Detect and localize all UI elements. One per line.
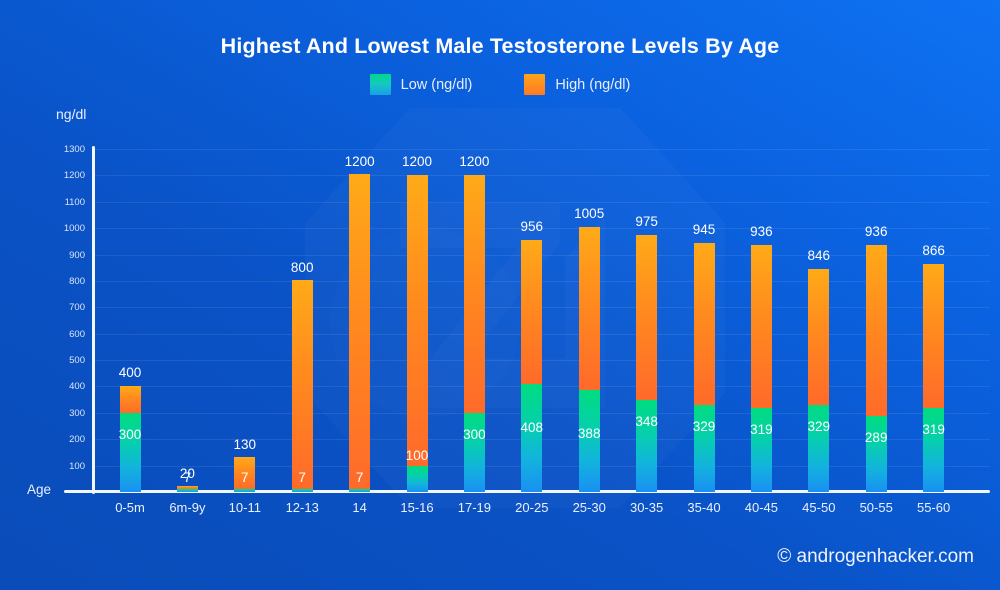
bar-segment-low[interactable] (579, 390, 600, 492)
legend-swatch-low-icon (370, 74, 391, 95)
x-axis-title: Age (27, 482, 51, 497)
x-axis-category-label: 17-19 (458, 500, 491, 515)
legend-label-low: Low (ng/dl) (401, 77, 473, 93)
credit-watermark: © androgenhacker.com (777, 546, 974, 568)
bar-value-label-low: 319 (922, 422, 945, 437)
bar-segment-high[interactable] (407, 175, 428, 465)
bar-value-label-high: 130 (234, 437, 257, 452)
gridline (92, 202, 990, 203)
bar-value-label-high: 846 (808, 248, 831, 263)
bar-value-label-low: 289 (865, 430, 888, 445)
bar-group[interactable] (808, 269, 829, 492)
bar-segment-high[interactable] (120, 386, 141, 412)
bar-group[interactable] (349, 175, 370, 492)
x-axis-category-label: 15-16 (400, 500, 433, 515)
bar-segment-low[interactable] (120, 413, 141, 492)
bar-group[interactable] (292, 281, 313, 492)
bar-value-label-high: 1200 (402, 154, 432, 169)
bar-value-label-low: 7 (298, 470, 306, 485)
bar-segment-low[interactable] (177, 489, 198, 492)
bar-value-label-high: 1200 (345, 154, 375, 169)
x-axis-category-label: 6m-9y (169, 500, 205, 515)
y-axis-tick-label: 1300 (55, 144, 85, 155)
chart-canvas: Highest And Lowest Male Testosterone Lev… (0, 0, 1000, 590)
x-axis-category-label: 10-11 (229, 500, 261, 515)
bar-segment-high[interactable] (521, 240, 542, 385)
legend-item-high[interactable]: High (ng/dl) (524, 74, 630, 95)
bar-value-label-high: 936 (750, 224, 773, 239)
bar-value-label-low: 7 (356, 470, 364, 485)
x-axis-category-label: 45-50 (802, 500, 835, 515)
bar-segment-low[interactable] (349, 489, 370, 492)
bar-group[interactable] (694, 243, 715, 492)
bar-value-label-high: 800 (291, 260, 314, 275)
bar-value-label-high: 1005 (574, 206, 604, 221)
bar-group[interactable] (407, 175, 428, 492)
x-axis-category-label: 0-5m (115, 500, 145, 515)
bar-group[interactable] (521, 240, 542, 492)
x-axis-category-label: 20-25 (515, 500, 548, 515)
y-axis-tick-label: 500 (55, 355, 85, 366)
y-axis-tick-label: 300 (55, 408, 85, 419)
bar-segment-high[interactable] (808, 269, 829, 405)
bar-segment-high[interactable] (751, 245, 772, 408)
bar-segment-low[interactable] (464, 413, 485, 492)
x-axis-category-label: 50-55 (860, 500, 893, 515)
bar-segment-high[interactable] (579, 227, 600, 390)
y-axis-tick-label: 800 (55, 276, 85, 287)
bar-segment-low[interactable] (751, 408, 772, 492)
y-axis-tick-label: 1100 (55, 197, 85, 208)
bar-value-label-high: 956 (521, 219, 544, 234)
bar-value-label-high: 975 (635, 214, 658, 229)
legend-swatch-high-icon (524, 74, 545, 95)
legend-item-low[interactable]: Low (ng/dl) (370, 74, 473, 95)
bar-value-label-high: 400 (119, 365, 142, 380)
bar-value-label-high: 945 (693, 222, 716, 237)
bar-value-label-low: 7 (241, 470, 249, 485)
bar-segment-low[interactable] (923, 408, 944, 492)
y-axis-unit-label: ng/dl (56, 106, 86, 122)
bar-segment-high[interactable] (464, 175, 485, 412)
bar-value-label-low: 329 (693, 419, 716, 434)
plot-area (92, 140, 990, 492)
bar-segment-low[interactable] (521, 384, 542, 492)
bar-value-label-low: 7 (184, 470, 192, 485)
x-axis-category-label: 25-30 (573, 500, 606, 515)
y-axis-tick-label: 400 (55, 381, 85, 392)
gridline (92, 175, 990, 176)
bar-value-label-low: 388 (578, 426, 601, 441)
bar-value-label-low: 100 (406, 448, 429, 463)
legend-label-high: High (ng/dl) (555, 77, 630, 93)
bar-segment-high[interactable] (292, 280, 313, 489)
bar-value-label-low: 348 (635, 414, 658, 429)
y-axis-tick-label: 100 (55, 461, 85, 472)
x-axis-category-label: 40-45 (745, 500, 778, 515)
bar-segment-low[interactable] (292, 489, 313, 492)
bar-segment-low[interactable] (407, 466, 428, 492)
bar-value-label-low: 300 (119, 427, 142, 442)
bar-value-label-low: 319 (750, 422, 773, 437)
bar-value-label-high: 866 (922, 243, 945, 258)
bar-value-label-high: 936 (865, 224, 888, 239)
y-axis-tick-label: 700 (55, 302, 85, 313)
chart-title: Highest And Lowest Male Testosterone Lev… (0, 34, 1000, 59)
bar-segment-high[interactable] (349, 174, 370, 489)
y-axis-tick-label: 1000 (55, 223, 85, 234)
bar-value-label-low: 329 (808, 419, 831, 434)
x-axis-category-label: 30-35 (630, 500, 663, 515)
x-axis-category-label: 35-40 (687, 500, 720, 515)
bar-segment-high[interactable] (923, 264, 944, 408)
y-axis-tick-label: 200 (55, 434, 85, 445)
y-axis-tick-label: 1200 (55, 170, 85, 181)
gridline (92, 149, 990, 150)
bar-value-label-low: 300 (463, 427, 486, 442)
bar-group[interactable] (464, 175, 485, 492)
bar-group[interactable] (923, 264, 944, 492)
y-axis-tick-label: 900 (55, 250, 85, 261)
x-axis-category-label: 14 (352, 500, 366, 515)
bar-group[interactable] (866, 245, 887, 492)
bar-value-label-high: 1200 (459, 154, 489, 169)
bar-segment-high[interactable] (694, 243, 715, 406)
chart-legend: Low (ng/dl) High (ng/dl) (0, 74, 1000, 95)
bar-segment-high[interactable] (636, 235, 657, 400)
bar-segment-low[interactable] (234, 489, 255, 492)
bar-segment-low[interactable] (866, 416, 887, 492)
bar-group[interactable] (177, 487, 198, 492)
bar-segment-high[interactable] (866, 245, 887, 416)
bar-group[interactable] (579, 227, 600, 492)
bar-value-label-low: 408 (521, 420, 544, 435)
y-axis-tick-label: 600 (55, 329, 85, 340)
x-axis-category-label: 12-13 (286, 500, 319, 515)
bar-group[interactable] (636, 235, 657, 492)
x-axis-category-label: 55-60 (917, 500, 950, 515)
bar-group[interactable] (751, 245, 772, 492)
